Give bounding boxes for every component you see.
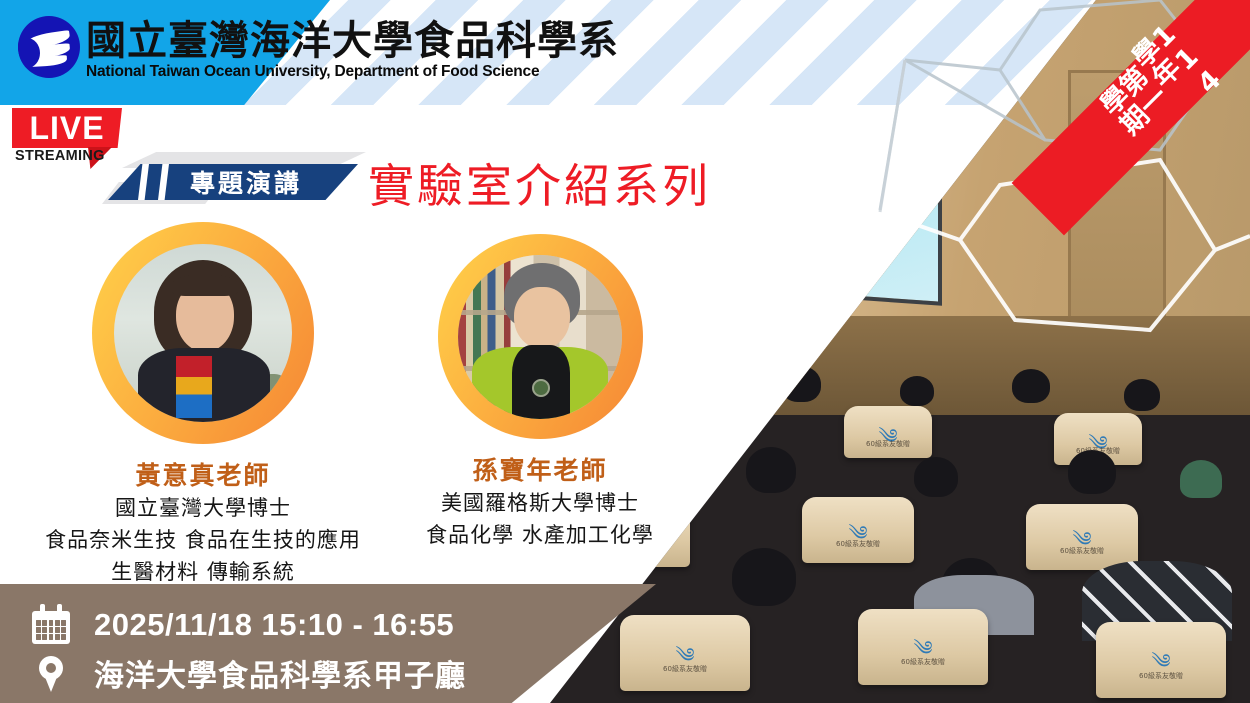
location-pin-icon [28, 650, 74, 696]
speaker-portrait-1 [114, 244, 292, 422]
topic-banner-label: 專題演講 [108, 164, 358, 200]
semester-ribbon: 第一學期 114學年 [1000, 0, 1250, 250]
speaker-card-1: 黃意真老師 國立臺灣大學博士 食品奈米生技 食品在生技的應用 生醫材料 傳輸系統 [38, 222, 368, 587]
speaker-name: 黃意真老師 [38, 456, 368, 492]
speaker-portrait-2 [458, 255, 622, 419]
seat-tag: 60級系友敬贈 [1139, 671, 1183, 681]
seat-tag: 60級系友敬贈 [866, 439, 910, 449]
speaker-name: 孫寶年老師 [380, 451, 700, 487]
poster-canvas: ༄60級系友敬贈 ༄60級系友敬贈 ༄60級系友敬贈 ༄60級系友敬贈 [0, 0, 1250, 703]
speaker-photo-ring [438, 234, 643, 439]
speaker-detail-line: 食品奈米生技 食品在生技的應用 [38, 526, 368, 556]
event-datetime: 2025/11/18 15:10 - 16:55 [94, 607, 454, 643]
speaker-detail-line: 生醫材料 傳輸系統 [38, 558, 368, 588]
event-venue-row: 海洋大學食品科學系甲子廳 [28, 650, 466, 696]
seat-tag: 60級系友敬贈 [1060, 546, 1104, 556]
ntou-logo-icon [18, 16, 80, 78]
seat-tag: 60級系友敬贈 [663, 664, 707, 674]
speaker-detail-line: 國立臺灣大學博士 [38, 494, 368, 524]
page-title: 實驗室介紹系列 [368, 150, 711, 216]
seat-tag: 60級系友敬贈 [901, 657, 945, 667]
calendar-icon [28, 602, 74, 648]
event-info-bar: 2025/11/18 15:10 - 16:55 海洋大學食品科學系甲子廳 [0, 584, 656, 703]
speaker-card-2: 孫寶年老師 美國羅格斯大學博士 食品化學 水產加工化學 [380, 234, 700, 551]
speaker-photo-ring [92, 222, 314, 444]
speaker-detail-line: 美國羅格斯大學博士 [380, 489, 700, 519]
live-label-box: LIVE [12, 108, 122, 148]
university-identity: 國立臺灣海洋大學食品科學系 National Taiwan Ocean Univ… [18, 16, 619, 81]
live-label: LIVE [29, 112, 104, 144]
event-datetime-row: 2025/11/18 15:10 - 16:55 [28, 602, 454, 648]
topic-banner: 專題演講 [96, 152, 366, 204]
speaker-detail-line: 食品化學 水產加工化學 [380, 521, 700, 551]
event-venue: 海洋大學食品科學系甲子廳 [94, 651, 466, 695]
university-title-en: National Taiwan Ocean University, Depart… [86, 63, 619, 81]
university-title-cn: 國立臺灣海洋大學食品科學系 [86, 20, 619, 62]
seat-tag: 60級系友敬贈 [836, 539, 880, 549]
